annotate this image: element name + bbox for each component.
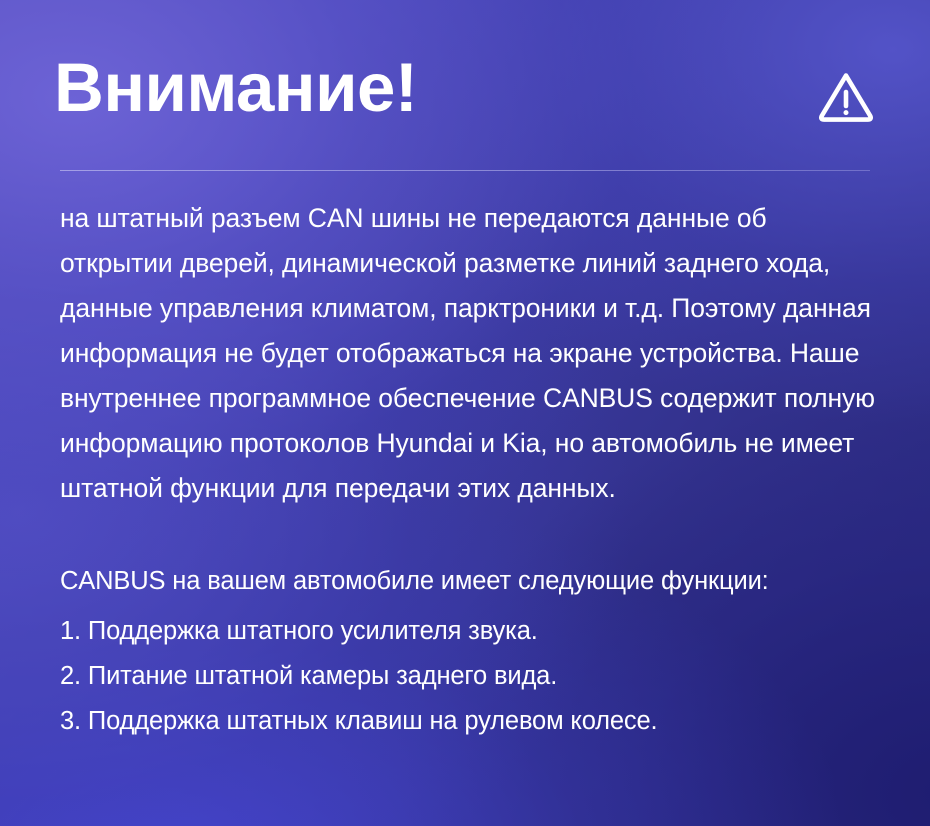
page-title: Внимание! bbox=[54, 49, 417, 127]
intro-paragraph: на штатный разъем CAN шины не передаются… bbox=[60, 196, 876, 511]
card-body: на штатный разъем CAN шины не передаются… bbox=[60, 196, 876, 744]
features-block: CANBUS на вашем автомобиле имеет следующ… bbox=[60, 559, 876, 744]
warning-triangle-icon bbox=[818, 70, 874, 124]
warning-notice-card: Внимание! на штатный разъем CAN шины не … bbox=[0, 0, 930, 826]
card-header: Внимание! bbox=[0, 0, 930, 171]
list-item: 3. Поддержка штатных клавиш на рулевом к… bbox=[60, 699, 876, 744]
list-item: 1. Поддержка штатного усилителя звука. bbox=[60, 609, 876, 654]
features-heading: CANBUS на вашем автомобиле имеет следующ… bbox=[60, 559, 876, 604]
list-item: 2. Питание штатной камеры заднего вида. bbox=[60, 654, 876, 699]
features-list: 1. Поддержка штатного усилителя звука. 2… bbox=[60, 609, 876, 744]
header-divider bbox=[60, 170, 870, 171]
